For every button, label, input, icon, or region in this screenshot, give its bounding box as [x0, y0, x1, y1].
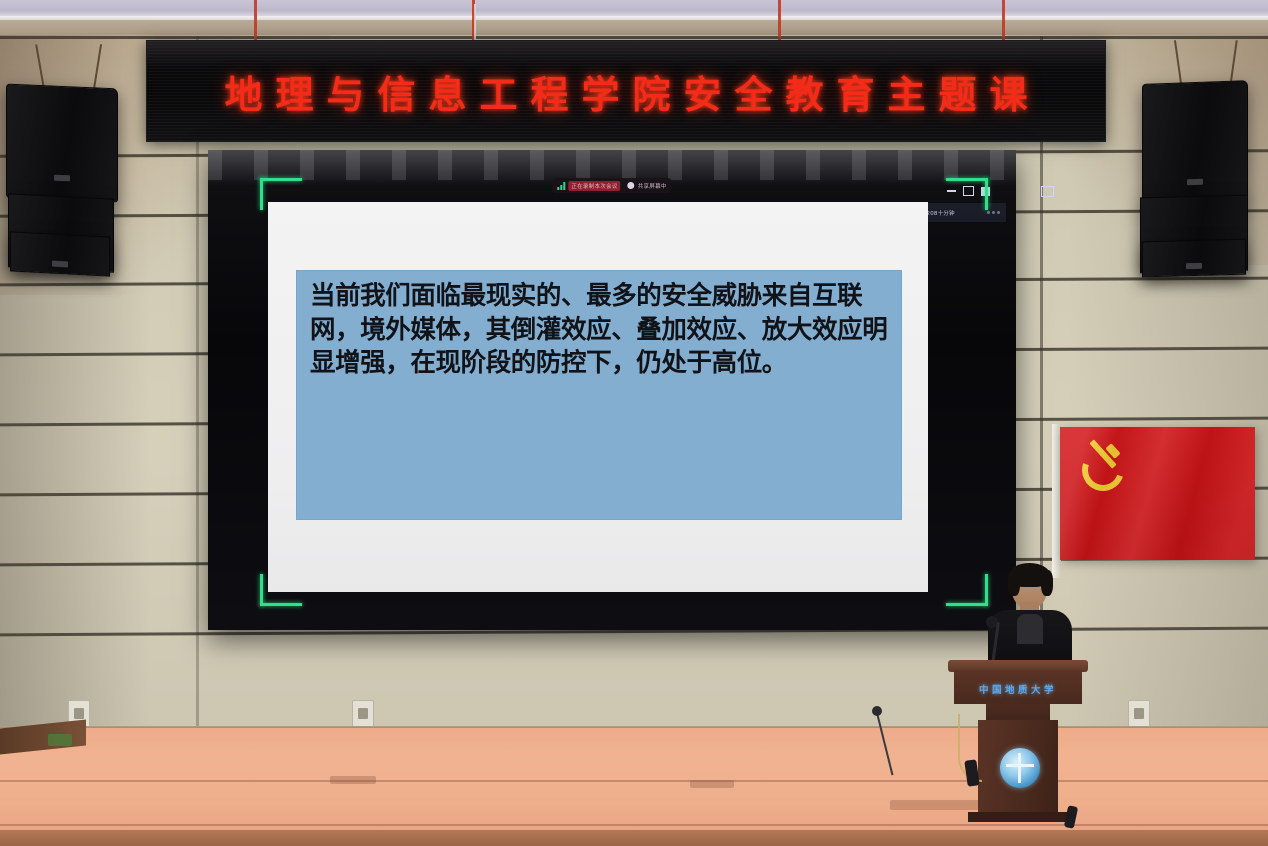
- floor-microphone: [872, 706, 882, 716]
- floor-seam: [0, 824, 1268, 826]
- hammer-head: [1105, 443, 1120, 459]
- podium-name-text: 中国地质大学: [954, 682, 1082, 696]
- speaker-left-top: [6, 84, 118, 203]
- presenter-hair-right: [1041, 570, 1053, 596]
- stage-front-strip: [0, 830, 1268, 846]
- upper-wall-band: [0, 20, 1268, 36]
- floor-mark: [690, 780, 734, 788]
- led-banner: 地理与信息工程学院安全教育主题课: [146, 40, 1106, 142]
- ceiling-cable: [778, 0, 781, 40]
- hammer-handle: [1089, 439, 1116, 468]
- screen-share-indicator[interactable]: 共享屏幕中: [628, 182, 667, 190]
- projection-screen: 正在录制本次会议 共享屏幕中 正在讲话：208十分钟 当前我们面临最现实的、最多…: [208, 150, 1016, 630]
- ceiling-cable: [1002, 0, 1005, 42]
- screen-glare-stripes: [208, 150, 1016, 180]
- podium-front-panel: 中国地质大学: [954, 670, 1082, 704]
- speaker-right-bottom: [1142, 239, 1246, 278]
- exit-fullscreen-icon[interactable]: [1041, 186, 1054, 197]
- slide-content-box: 当前我们面临最现实的、最多的安全威胁来自互联网，境外媒体，其倒灌效应、叠加效应、…: [296, 270, 902, 520]
- ceiling-cable: [254, 0, 257, 42]
- lecture-hall-photo: 地理与信息工程学院安全教育主题课 正在录制本次会议 共享: [0, 0, 1268, 846]
- ceiling-hook: [474, 4, 476, 40]
- share-label: 共享屏幕中: [638, 182, 667, 190]
- sickle-shape: [1075, 442, 1131, 498]
- hammer-and-sickle-icon: [1080, 445, 1124, 485]
- alignment-bracket-top-right: [946, 178, 988, 210]
- projected-slide: 当前我们面临最现实的、最多的安全威胁来自互联网，境外媒体，其倒灌效应、叠加效应、…: [268, 202, 928, 592]
- signal-icon: [557, 182, 565, 190]
- speaker-badge: [54, 175, 70, 182]
- speaker-left-bottom: [10, 231, 110, 276]
- alignment-bracket-top-left: [260, 178, 302, 210]
- presenter-hair-left: [1008, 570, 1020, 596]
- podium-base: [968, 812, 1068, 822]
- speaker-badge: [1186, 263, 1202, 269]
- slide-text: 当前我们面临最现实的、最多的安全威胁来自互联网，境外媒体，其倒灌效应、叠加效应、…: [310, 280, 896, 381]
- floor-tape-marker: [48, 734, 72, 746]
- wall-seam: [0, 36, 1268, 39]
- speaker-right-top: [1142, 80, 1248, 204]
- floor-mark: [330, 776, 376, 784]
- university-emblem-icon: [1000, 748, 1040, 788]
- speaker-badge: [1187, 179, 1203, 186]
- share-screen-icon: [628, 182, 635, 189]
- alignment-bracket-bottom-left: [260, 574, 302, 606]
- recording-label: 正在录制本次会议: [568, 181, 620, 191]
- party-flag: [1060, 427, 1255, 560]
- wall-outlet: [1128, 700, 1150, 728]
- alignment-bracket-bottom-right: [946, 574, 988, 606]
- wall-outlet: [352, 700, 374, 728]
- presenter-shirt: [1017, 614, 1043, 644]
- meeting-toolbar[interactable]: 正在录制本次会议 共享屏幕中: [552, 178, 671, 193]
- led-banner-text: 地理与信息工程学院安全教育主题课: [211, 64, 1040, 119]
- speaker-badge: [52, 261, 68, 268]
- more-options-icon[interactable]: [987, 211, 1000, 214]
- recording-indicator[interactable]: 正在录制本次会议: [557, 181, 620, 191]
